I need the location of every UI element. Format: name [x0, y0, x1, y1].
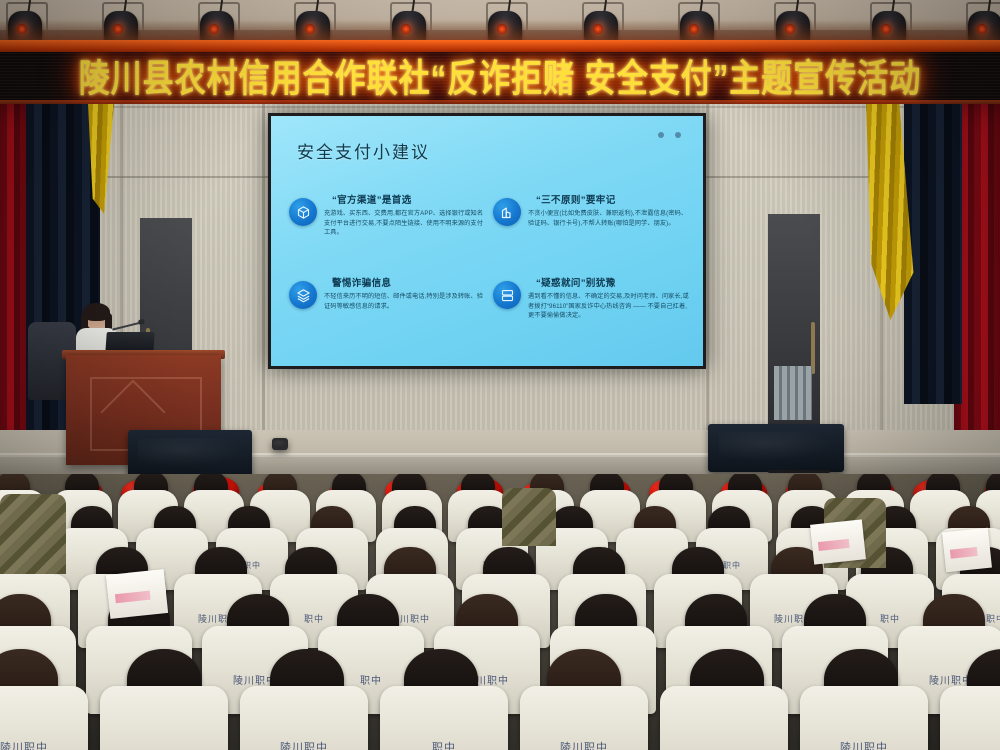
audience-seat: 陵川职中 — [240, 686, 368, 750]
student-camo-uniform — [0, 494, 66, 574]
curtain-navy-right — [904, 104, 962, 404]
slide-card-text: 警惕诈骗信息不轻信来历不明的短信、邮件或电话,特别是涉及转账、验证码等敏感信息的… — [324, 275, 485, 311]
anti-fraud-leaflet — [810, 519, 866, 564]
seat-cover-label: 职中 — [380, 739, 508, 750]
slide-card-body: 遇到看不懂的信息、不确定的交易,及时问老师、问家长,或者拨打“96110”国家反… — [528, 292, 689, 321]
stage-door-right — [768, 214, 820, 436]
anti-fraud-leaflet — [106, 569, 168, 619]
banner-text: 陵川县农村信用合作联社“反诈拒赌 安全支付”主题宣传活动 — [79, 59, 922, 97]
bar-chart-icon — [493, 198, 521, 226]
led-banner: 陵川县农村信用合作联社“反诈拒赌 安全支付”主题宣传活动 — [0, 52, 1000, 104]
radiator — [774, 366, 812, 420]
slide-card: “官方渠道”是首选充游戏、买东西、交费用,都在官方APP、选择银行或知名支付平台… — [289, 192, 485, 269]
audience-seat: 职中 — [380, 686, 508, 750]
wall-panel-edge — [262, 104, 265, 434]
seat-cover-label: 陵川职中 — [0, 739, 88, 750]
audience-seat — [100, 686, 228, 750]
layers-icon — [289, 281, 317, 309]
floor-object — [272, 438, 288, 450]
slide-card-heading: “三不原则”要牢记 — [536, 192, 689, 206]
audience-area: 职中职中职中职中职中陵川职中陵川职中职中陵川职中陵川职中陵川职中职中陵川职中陵川… — [0, 474, 1000, 750]
slide-title: 安全支付小建议 — [297, 138, 430, 163]
seat-cover-label: 陵川职中 — [520, 739, 648, 750]
audience-seat: 陵川职中 — [520, 686, 648, 750]
slide-card-grid: “官方渠道”是首选充游戏、买东西、交费用,都在官方APP、选择银行或知名支付平台… — [289, 192, 689, 352]
slide-card-heading: 警惕诈骗信息 — [332, 275, 485, 289]
slide-card: “三不原则”要牢记不贪小便宜(比如免费皮肤、兼职返利),不泄露信息(密码、验证码… — [493, 192, 689, 269]
slide-card: “疑惑就问”别犹豫遇到看不懂的信息、不确定的交易,及时问老师、问家长,或者拨打“… — [493, 275, 689, 352]
slide-card-heading: “官方渠道”是首选 — [332, 192, 485, 206]
wall-panel-edge — [706, 104, 709, 434]
wall-seam-top — [0, 106, 1000, 108]
slide-decoration-dots — [658, 132, 681, 138]
monitor-cable-right — [768, 470, 830, 473]
student-camo-uniform — [502, 488, 556, 546]
slide-card-heading: “疑惑就问”别犹豫 — [536, 275, 689, 289]
cube-icon — [289, 198, 317, 226]
slide-card-body: 不贪小便宜(比如免费皮肤、兼职返利),不泄露信息(密码、验证码、银行卡号),不帮… — [528, 209, 689, 228]
anti-fraud-leaflet — [942, 528, 992, 573]
audience-seat: 陵川职中 — [0, 686, 88, 750]
slide-card-body: 充游戏、买东西、交费用,都在官方APP、选择银行或知名支付平台进行交易,不要点陌… — [324, 209, 485, 238]
seat-cover-label: 陵川职中 — [240, 739, 368, 750]
audience-seat — [660, 686, 788, 750]
stage-monitor-left — [128, 430, 252, 478]
projection-screen: 安全支付小建议 “官方渠道”是首选充游戏、买东西、交费用,都在官方APP、选择银… — [268, 113, 706, 369]
slide-card-text: “官方渠道”是首选充游戏、买东西、交费用,都在官方APP、选择银行或知名支付平台… — [324, 192, 485, 238]
stage-monitor-right — [708, 424, 844, 472]
audience-seat: 陵川职中 — [800, 686, 928, 750]
server-icon — [493, 281, 521, 309]
slide-card-text: “疑惑就问”别犹豫遇到看不懂的信息、不确定的交易,及时问老师、问家长,或者拨打“… — [528, 275, 689, 321]
slide-card-text: “三不原则”要牢记不贪小便宜(比如免费皮肤、兼职返利),不泄露信息(密码、验证码… — [528, 192, 689, 228]
photo-scene: 陵川县农村信用合作联社“反诈拒赌 安全支付”主题宣传活动 安全支付小建议 “官方… — [0, 0, 1000, 750]
seat-cover-label: 陵川职中 — [800, 739, 928, 750]
presentation-slide: 安全支付小建议 “官方渠道”是首选充游戏、买东西、交费用,都在官方APP、选择银… — [271, 116, 703, 366]
audience-seat — [940, 686, 1000, 750]
slide-card: 警惕诈骗信息不轻信来历不明的短信、邮件或电话,特别是涉及转账、验证码等敏感信息的… — [289, 275, 485, 352]
slide-card-body: 不轻信来历不明的短信、邮件或电话,特别是涉及转账、验证码等敏感信息的请求。 — [324, 292, 485, 311]
